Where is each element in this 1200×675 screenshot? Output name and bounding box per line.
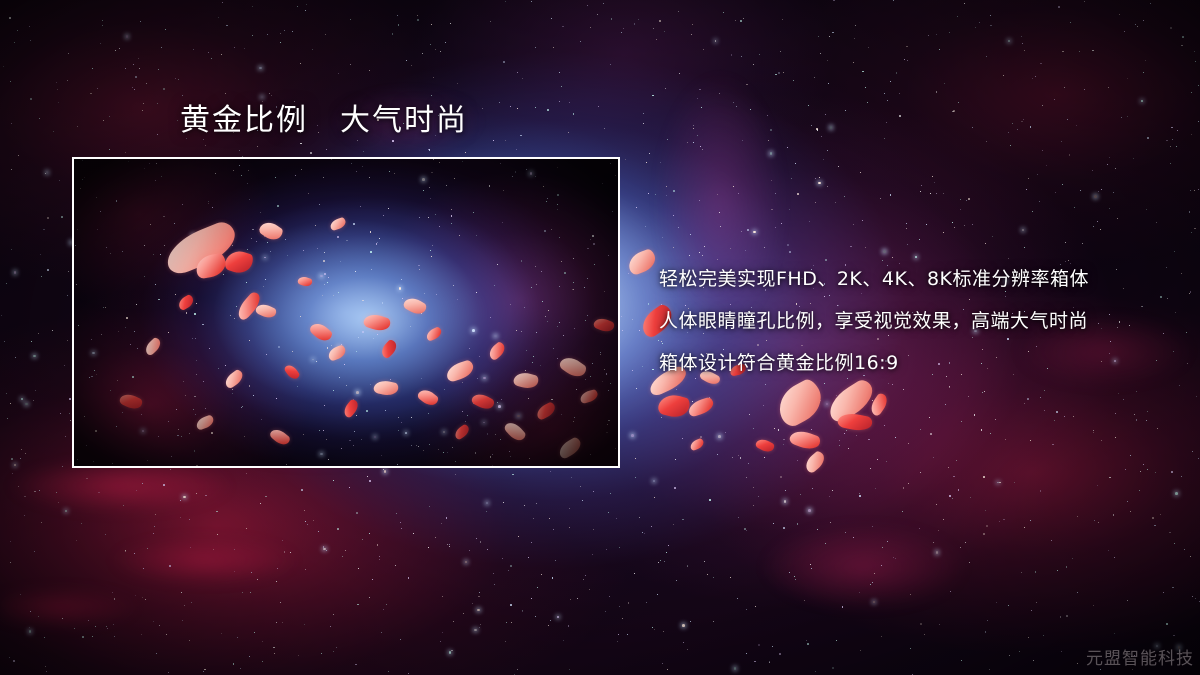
star [1166, 623, 1168, 625]
star [290, 552, 291, 553]
star [983, 533, 985, 535]
star [77, 126, 78, 127]
star [1179, 385, 1180, 386]
star [14, 42, 15, 43]
star [1027, 398, 1029, 400]
star [746, 653, 747, 654]
star [1051, 540, 1052, 541]
star [906, 46, 908, 48]
star [514, 674, 515, 675]
star [768, 140, 769, 141]
star [147, 548, 148, 549]
star [494, 584, 495, 585]
star [379, 556, 380, 557]
star [1137, 26, 1138, 27]
star [886, 122, 887, 123]
star [38, 616, 39, 617]
star [903, 389, 904, 390]
star [778, 429, 780, 431]
star [277, 568, 278, 569]
star [153, 621, 154, 622]
star [1109, 208, 1110, 209]
star [81, 523, 82, 524]
star [819, 177, 820, 178]
star [82, 636, 84, 638]
star [811, 429, 812, 430]
star [369, 480, 371, 482]
star [449, 651, 452, 654]
star [972, 127, 973, 128]
star [18, 486, 19, 487]
star [1021, 121, 1023, 123]
star [730, 577, 731, 578]
star [95, 626, 96, 627]
star [1192, 451, 1193, 452]
star [890, 194, 892, 196]
star [555, 560, 556, 561]
star [653, 480, 656, 483]
star [704, 561, 705, 562]
star [112, 592, 113, 593]
star [634, 573, 635, 574]
star [1115, 168, 1116, 169]
star [958, 102, 959, 103]
star [628, 602, 629, 603]
star [408, 673, 409, 674]
star [246, 473, 247, 474]
star [778, 72, 780, 74]
body-line-1: 轻松完美实现FHD、2K、4K、8K标准分辨率箱体 [659, 258, 1179, 300]
star [886, 461, 887, 462]
star [609, 596, 610, 597]
star [531, 542, 532, 543]
star [1157, 428, 1158, 429]
star [217, 534, 218, 535]
star [125, 551, 126, 552]
star [1040, 397, 1041, 398]
star [704, 246, 705, 247]
star [401, 528, 402, 529]
star [652, 369, 654, 371]
star [845, 532, 846, 533]
star [1097, 221, 1098, 222]
star [1023, 119, 1024, 120]
star [103, 120, 104, 121]
star [21, 449, 22, 450]
star [592, 554, 593, 555]
star [668, 545, 669, 546]
star [881, 565, 882, 566]
star [242, 592, 243, 593]
star [216, 511, 217, 512]
star [908, 443, 909, 444]
star [1031, 610, 1032, 611]
star [305, 521, 306, 522]
star [138, 58, 139, 59]
star [899, 115, 901, 117]
star [449, 544, 451, 546]
star [779, 653, 781, 655]
star [795, 579, 796, 580]
star [133, 64, 134, 65]
star [154, 526, 155, 527]
star [952, 222, 953, 223]
star [740, 20, 742, 22]
star [662, 237, 663, 238]
star [862, 71, 863, 72]
star [392, 140, 394, 142]
star [107, 628, 108, 629]
star [667, 139, 668, 140]
star [906, 223, 907, 224]
star [829, 496, 830, 497]
star [446, 517, 447, 518]
star [950, 591, 951, 592]
star [930, 193, 931, 194]
star [660, 560, 661, 561]
star [53, 131, 54, 132]
star [204, 669, 205, 670]
star [720, 226, 721, 227]
star [1163, 592, 1164, 593]
star [486, 511, 487, 512]
star [774, 428, 775, 429]
star [631, 434, 634, 437]
star [411, 65, 412, 66]
star [357, 140, 358, 141]
star [226, 25, 227, 26]
star [550, 471, 551, 472]
star [835, 202, 836, 203]
star [590, 27, 591, 28]
star [865, 247, 866, 248]
star [455, 474, 456, 475]
star [865, 87, 866, 88]
star [654, 497, 655, 498]
star [20, 458, 21, 459]
star [510, 106, 511, 107]
star [318, 531, 319, 532]
star [1028, 637, 1029, 638]
star [832, 667, 834, 669]
watermark: 元盟智能科技 [1086, 644, 1194, 669]
star [733, 186, 734, 187]
star [1184, 549, 1185, 550]
star [142, 597, 143, 598]
star [508, 570, 509, 571]
star [936, 193, 937, 194]
star [184, 605, 185, 606]
star [827, 60, 828, 61]
star [310, 152, 312, 154]
star [610, 64, 611, 65]
star [1019, 651, 1020, 652]
star [24, 515, 25, 516]
star [968, 396, 969, 397]
star [860, 172, 861, 173]
star [292, 31, 293, 32]
star [960, 209, 961, 210]
star [213, 549, 214, 550]
star [972, 224, 973, 225]
star [141, 634, 142, 635]
star [178, 79, 179, 80]
star [21, 398, 24, 401]
star [961, 660, 962, 661]
star [9, 17, 11, 19]
star [646, 602, 647, 603]
star [1181, 273, 1182, 274]
star [844, 196, 845, 197]
star [323, 548, 326, 551]
star [1109, 157, 1110, 158]
star [384, 470, 387, 473]
star [135, 595, 136, 596]
star [1170, 163, 1171, 164]
star [734, 667, 737, 670]
star [723, 12, 724, 13]
star [661, 417, 662, 418]
star [44, 637, 45, 638]
star [486, 502, 489, 505]
star [699, 89, 700, 90]
star [638, 19, 639, 20]
star [675, 459, 676, 460]
star [827, 186, 828, 187]
star [553, 529, 554, 530]
framed-photo-panel [72, 157, 620, 468]
star [487, 549, 488, 550]
star [1107, 164, 1108, 165]
star [261, 96, 263, 98]
star [1080, 190, 1081, 191]
star [713, 621, 714, 622]
star [784, 500, 787, 503]
star [964, 3, 965, 4]
star [357, 604, 359, 606]
star [827, 150, 828, 151]
star [1028, 178, 1029, 179]
star [702, 255, 703, 256]
star [986, 525, 988, 527]
star [746, 530, 747, 531]
star [979, 22, 980, 23]
star [222, 2, 223, 3]
star [920, 472, 921, 473]
star [86, 478, 87, 479]
star [659, 20, 661, 22]
star [157, 103, 158, 104]
star [512, 474, 513, 475]
star [636, 388, 637, 389]
star [1198, 458, 1199, 459]
star [1146, 420, 1147, 421]
star [593, 529, 594, 530]
star [816, 128, 817, 129]
star [143, 568, 144, 569]
star [663, 631, 664, 632]
star [1169, 532, 1171, 534]
star [476, 538, 477, 539]
star [953, 110, 955, 112]
star [806, 640, 807, 641]
star [369, 533, 370, 534]
star [808, 105, 809, 106]
star [984, 391, 985, 392]
star [956, 460, 957, 461]
star [965, 542, 966, 543]
star [656, 39, 657, 40]
star [662, 663, 663, 664]
star [949, 387, 950, 388]
star [838, 166, 839, 167]
star [996, 602, 997, 603]
star [478, 596, 479, 597]
star [585, 575, 586, 576]
star [1030, 440, 1031, 441]
star [300, 63, 301, 64]
star [691, 34, 692, 35]
star [441, 523, 442, 524]
star [517, 72, 518, 73]
star [30, 40, 31, 41]
star [1037, 174, 1038, 175]
star [76, 540, 77, 541]
star [770, 152, 773, 155]
star [587, 5, 588, 6]
star [800, 494, 801, 495]
star [830, 126, 833, 129]
star [282, 622, 283, 623]
star [369, 70, 370, 71]
star [745, 250, 746, 251]
star [623, 28, 624, 29]
star [606, 549, 607, 550]
star [165, 29, 166, 30]
star [52, 330, 53, 331]
star [30, 611, 31, 612]
star [1066, 566, 1067, 567]
star [1024, 247, 1025, 248]
star [395, 565, 396, 566]
star [305, 10, 306, 11]
star [221, 633, 222, 634]
star [1189, 211, 1191, 213]
star [282, 540, 283, 541]
star [10, 81, 11, 82]
star [715, 40, 717, 42]
star [1127, 116, 1128, 117]
star [1155, 472, 1156, 473]
star [182, 620, 183, 621]
star [622, 618, 623, 619]
star [57, 89, 58, 90]
star [1021, 572, 1022, 573]
star [68, 53, 69, 54]
star [943, 232, 944, 233]
star [960, 199, 961, 200]
star [920, 623, 922, 625]
star [921, 185, 922, 186]
star [493, 140, 494, 141]
star [666, 195, 667, 196]
star [505, 641, 506, 642]
star [3, 66, 4, 67]
star [134, 553, 135, 554]
star [435, 537, 436, 538]
star [271, 95, 272, 96]
star [92, 68, 93, 69]
star [125, 68, 126, 69]
star [1190, 291, 1192, 293]
star [156, 653, 157, 654]
star [859, 493, 860, 494]
star [1062, 184, 1063, 185]
star [829, 36, 830, 37]
star [517, 108, 518, 109]
star [326, 550, 327, 551]
star [62, 466, 63, 467]
star [417, 15, 418, 16]
star [850, 246, 851, 247]
star [1033, 660, 1034, 661]
star [47, 217, 49, 219]
star [1082, 243, 1083, 244]
star [304, 510, 305, 511]
star [737, 598, 738, 599]
star [528, 557, 529, 558]
star [1141, 100, 1144, 103]
star [1056, 411, 1058, 413]
star [114, 636, 115, 637]
star [1140, 471, 1141, 472]
star [474, 629, 477, 632]
star [832, 490, 833, 491]
star [1054, 99, 1055, 100]
petal [657, 391, 692, 420]
star [938, 530, 939, 531]
star [251, 572, 252, 573]
star [62, 618, 63, 619]
star [571, 477, 572, 478]
star [758, 496, 759, 497]
star [39, 490, 40, 491]
star [771, 180, 772, 181]
star [29, 26, 30, 27]
star [205, 145, 206, 146]
star [477, 609, 480, 612]
star [814, 77, 815, 78]
star [735, 20, 736, 21]
star [648, 303, 650, 305]
star [1171, 471, 1173, 473]
star [904, 59, 905, 60]
star [738, 455, 739, 456]
star [180, 517, 181, 518]
star [1191, 232, 1192, 233]
star [429, 506, 430, 507]
star [531, 1, 532, 2]
star [1064, 416, 1065, 417]
star [753, 487, 754, 488]
star [522, 611, 523, 612]
star [928, 35, 929, 36]
star [4, 341, 5, 342]
star [877, 459, 878, 460]
star [363, 151, 364, 152]
star [985, 510, 986, 511]
star [815, 202, 816, 203]
